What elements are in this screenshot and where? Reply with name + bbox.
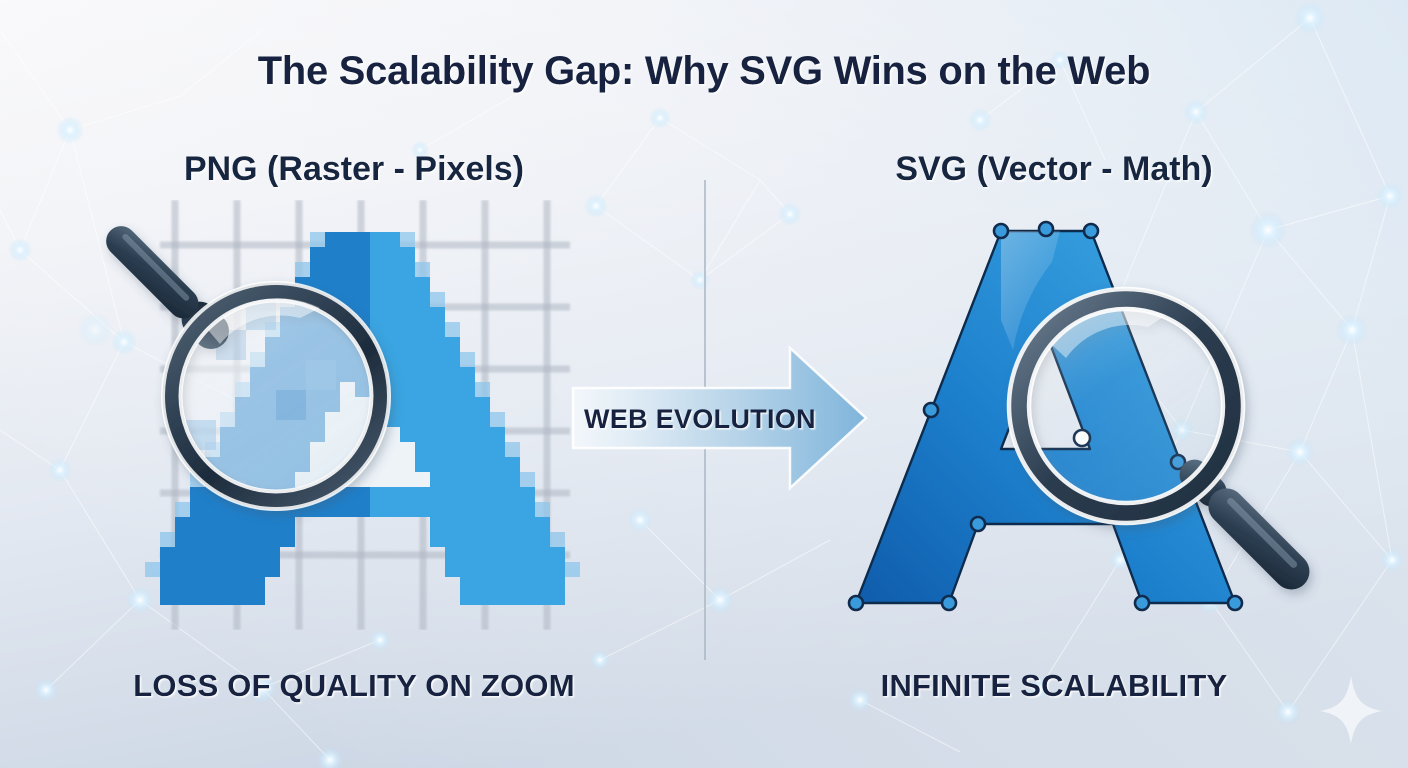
anchor-node — [1228, 596, 1242, 610]
infographic-svg: The Scalability Gap: Why SVG Wins on the… — [0, 0, 1408, 768]
page-title: The Scalability Gap: Why SVG Wins on the… — [258, 49, 1150, 93]
left-panel-heading: PNG (Raster - Pixels) — [184, 150, 524, 188]
anchor-node — [994, 224, 1008, 238]
anchor-node — [971, 517, 985, 531]
anchor-node — [924, 403, 938, 417]
right-panel-heading: SVG (Vector - Math) — [895, 150, 1212, 188]
left-panel-caption: LOSS OF QUALITY ON ZOOM — [133, 668, 574, 703]
arrow-label: WEB EVOLUTION — [584, 404, 816, 434]
infographic-canvas: The Scalability Gap: Why SVG Wins on the… — [0, 0, 1408, 768]
anchor-node — [1039, 222, 1053, 236]
right-panel-caption: INFINITE SCALABILITY — [881, 668, 1228, 703]
anchor-node — [849, 596, 863, 610]
anchor-node — [1084, 224, 1098, 238]
anchor-node — [942, 596, 956, 610]
anchor-node — [1135, 596, 1149, 610]
